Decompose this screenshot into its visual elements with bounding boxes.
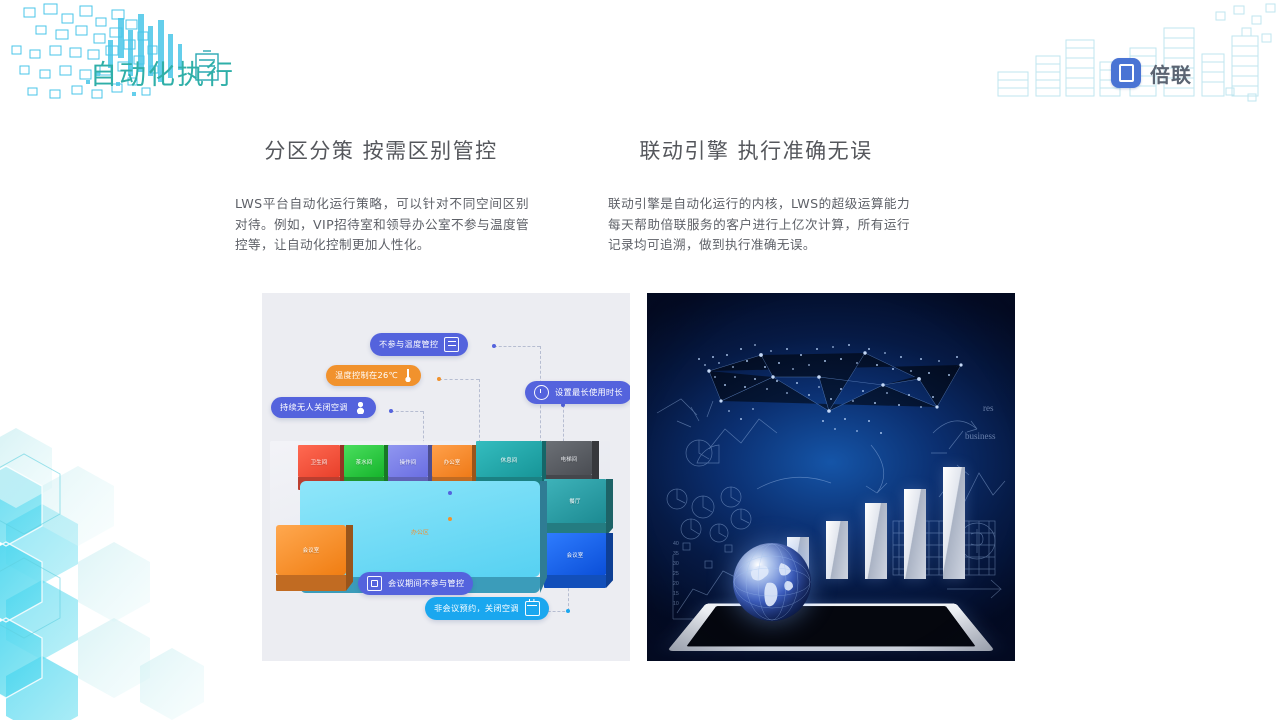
column-left: 分区分策 按需区别管控 LWS平台自动化运行策略，可以针对不同空间区别对待。例如… [205,118,557,268]
tag-label: 设置最长使用时长 [555,388,623,396]
tag-meeting-exempt[interactable]: 会议期间不参与管控 [358,572,473,595]
svg-text:40: 40 [673,541,679,547]
leader-line [494,346,540,347]
svg-text:20: 20 [673,581,679,587]
room-block: 餐厅 [544,479,606,523]
tag-max-usage-duration[interactable]: 设置最长使用时长 [525,381,630,404]
clock-icon [534,385,549,400]
leader-line [391,411,423,412]
bar-chart-3d [787,429,965,579]
svg-text:25: 25 [673,571,679,577]
document-lines-icon [444,337,459,352]
calendar-icon [525,601,540,616]
person-sensor-icon [354,401,367,414]
svg-text:15: 15 [673,591,679,597]
brand-logo: 倍联 [1111,58,1192,88]
room-block: 卫生间 [298,445,340,477]
bigdata-scene: res business 403530 252015 10 [647,293,1015,661]
connector-node [492,344,496,348]
connector-node [389,409,393,413]
thermometer-icon [404,369,412,382]
floorplan-diagram: 卫生间 茶水间 操作间 办公室 休息间 [262,293,630,661]
room-block: 电梯间 [546,441,592,475]
sketch-annotation-business: business [965,431,996,441]
leader-line [439,379,479,380]
column-right: 联动引擎 执行准确无误 联动引擎是自动化运行的内核，LWS的超级运算能力每天帮助… [580,118,932,268]
connector-node [448,517,452,521]
bar [943,467,965,579]
room-label: 茶水间 [344,458,384,466]
column-right-heading: 联动引擎 执行准确无误 [580,135,932,165]
room-label: 会议室 [276,546,346,554]
bar [826,521,848,579]
svg-text:30: 30 [673,561,679,567]
room-label: 会议室 [544,551,606,559]
room-block: 会议室 [276,525,346,575]
globe-icon [733,543,811,621]
connector-node [448,491,452,495]
tag-temperature-26[interactable]: 温度控制在26℃ [326,365,421,386]
room-block: 操作间 [388,445,428,477]
tag-no-temperature-control[interactable]: 不参与温度管控 [370,333,468,356]
column-right-body: 联动引擎是自动化运行的内核，LWS的超级运算能力每天帮助倍联服务的客户进行上亿次… [580,194,932,255]
brand-name: 倍联 [1150,59,1192,88]
figure-bigdata: res business 403530 252015 10 [647,293,1015,661]
room-label: 卫生间 [298,458,340,466]
room-label: 操作间 [388,458,428,466]
tag-label: 温度控制在26℃ [335,371,398,379]
city-skyline-decoration [980,0,1280,110]
tag-no-booking-shutoff[interactable]: 非会议预约，关闭空调 [425,597,549,620]
brand-mark-icon [1111,58,1141,88]
room-block: 茶水间 [344,445,384,477]
column-left-body: LWS平台自动化运行策略，可以针对不同空间区别对待。例如，VIP招待室和领导办公… [205,194,557,255]
hexagon-pattern-decoration [0,390,210,720]
tag-label: 会议期间不参与管控 [388,579,464,587]
room-block: 会议室 [544,533,606,575]
svg-text:10: 10 [673,601,679,607]
tag-label: 持续无人关闭空调 [280,403,348,411]
room-block: 办公室 [432,445,472,477]
column-left-heading: 分区分策 按需区别管控 [205,135,557,165]
room-block: 休息间 [476,441,542,477]
room-label: 办公室 [432,458,472,466]
svg-text:35: 35 [673,551,679,557]
page-title: 自动化执行 [90,53,235,92]
bar [904,489,926,579]
tablet-device [667,603,995,651]
globe-continents [733,543,811,621]
meeting-room-icon [367,576,382,591]
sketch-annotation-res: res [983,403,994,413]
room-label: 休息间 [476,456,542,464]
bar [865,503,887,579]
figure-floorplan: 卫生间 茶水间 操作间 办公室 休息间 [262,293,630,661]
connector-node [566,609,570,613]
connector-node [437,377,441,381]
room-label: 餐厅 [544,497,606,505]
tag-label: 非会议预约，关闭空调 [434,604,519,612]
tag-unoccupied-shutoff[interactable]: 持续无人关闭空调 [271,397,376,418]
room-label: 电梯间 [546,455,592,463]
tag-label: 不参与温度管控 [379,340,438,348]
